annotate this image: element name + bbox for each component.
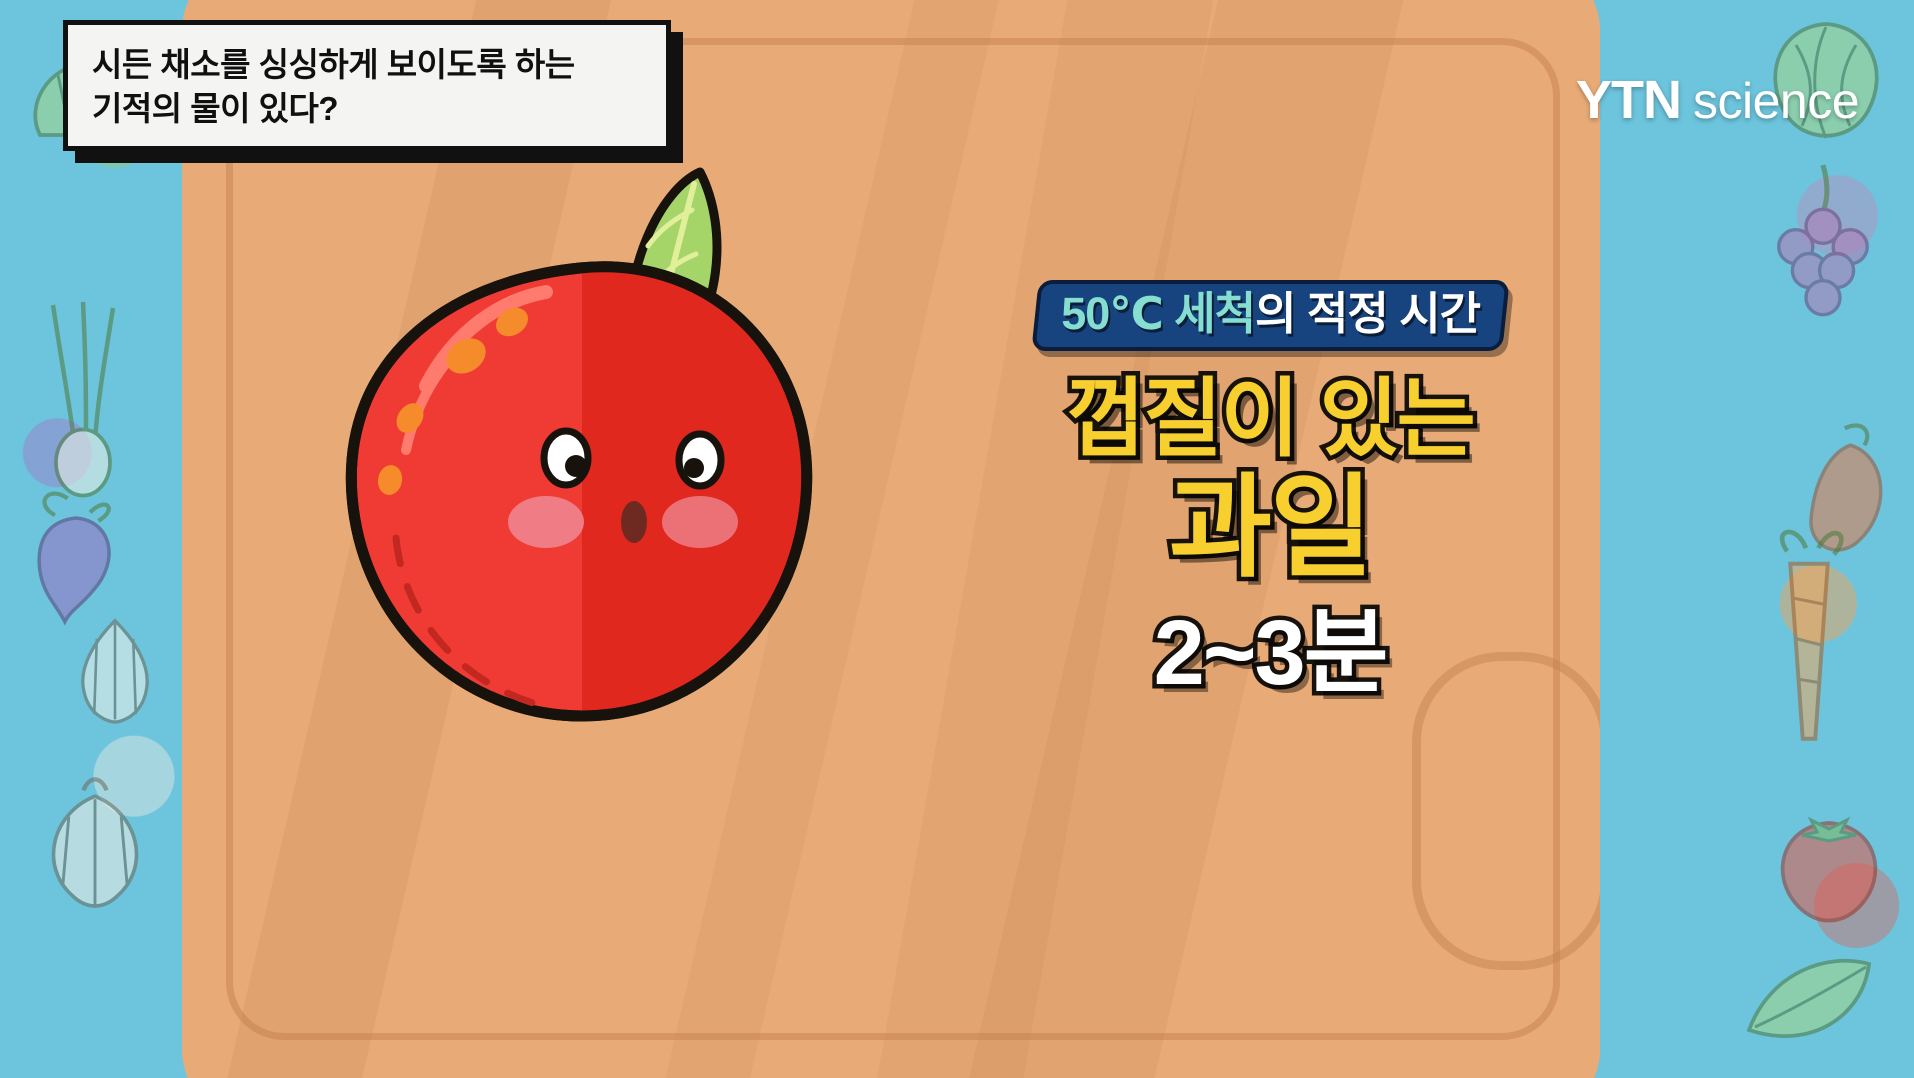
ribbon-rest-text: 의 적정 시간 <box>1255 288 1480 339</box>
spring-onion-doodle-icon <box>8 290 158 500</box>
leaf-doodle-icon <box>1734 940 1884 1060</box>
channel-logo: YTN science <box>1576 73 1859 127</box>
tomato-doodle-icon <box>1754 790 1904 940</box>
carrot-doodle-icon <box>1744 520 1874 770</box>
logo-primary-text: YTN <box>1576 73 1681 127</box>
headline-line-2: 과일 <box>960 468 1580 589</box>
board-handle-outline <box>1412 652 1600 970</box>
duration-text: 2~3분 <box>960 607 1580 699</box>
subtitle-text: 시든 채소를 싱싱하게 보이도록 하는 기적의 물이 있다? <box>92 43 644 130</box>
logo-secondary-text: science <box>1693 76 1859 126</box>
grapes-doodle-icon <box>1738 150 1908 340</box>
onion-doodle-icon <box>20 770 170 930</box>
headline: 껍질이 있는 과일 <box>960 373 1580 589</box>
ribbon-highlight-text: 50℃ 세척 <box>1061 288 1255 339</box>
headline-line-1: 껍질이 있는 <box>960 373 1580 466</box>
video-frame: 시든 채소를 싱싱하게 보이도록 하는 기적의 물이 있다? YTN scien… <box>0 0 1914 1078</box>
info-text-block: 50℃ 세척의 적정 시간 껍질이 있는 과일 2~3분 <box>960 280 1580 699</box>
garlic-doodle-icon <box>50 600 180 740</box>
tomato-mascot <box>300 150 860 750</box>
section-ribbon: 50℃ 세척의 적정 시간 <box>1031 280 1509 351</box>
subtitle-caption-box: 시든 채소를 싱싱하게 보이도록 하는 기적의 물이 있다? <box>63 20 671 151</box>
